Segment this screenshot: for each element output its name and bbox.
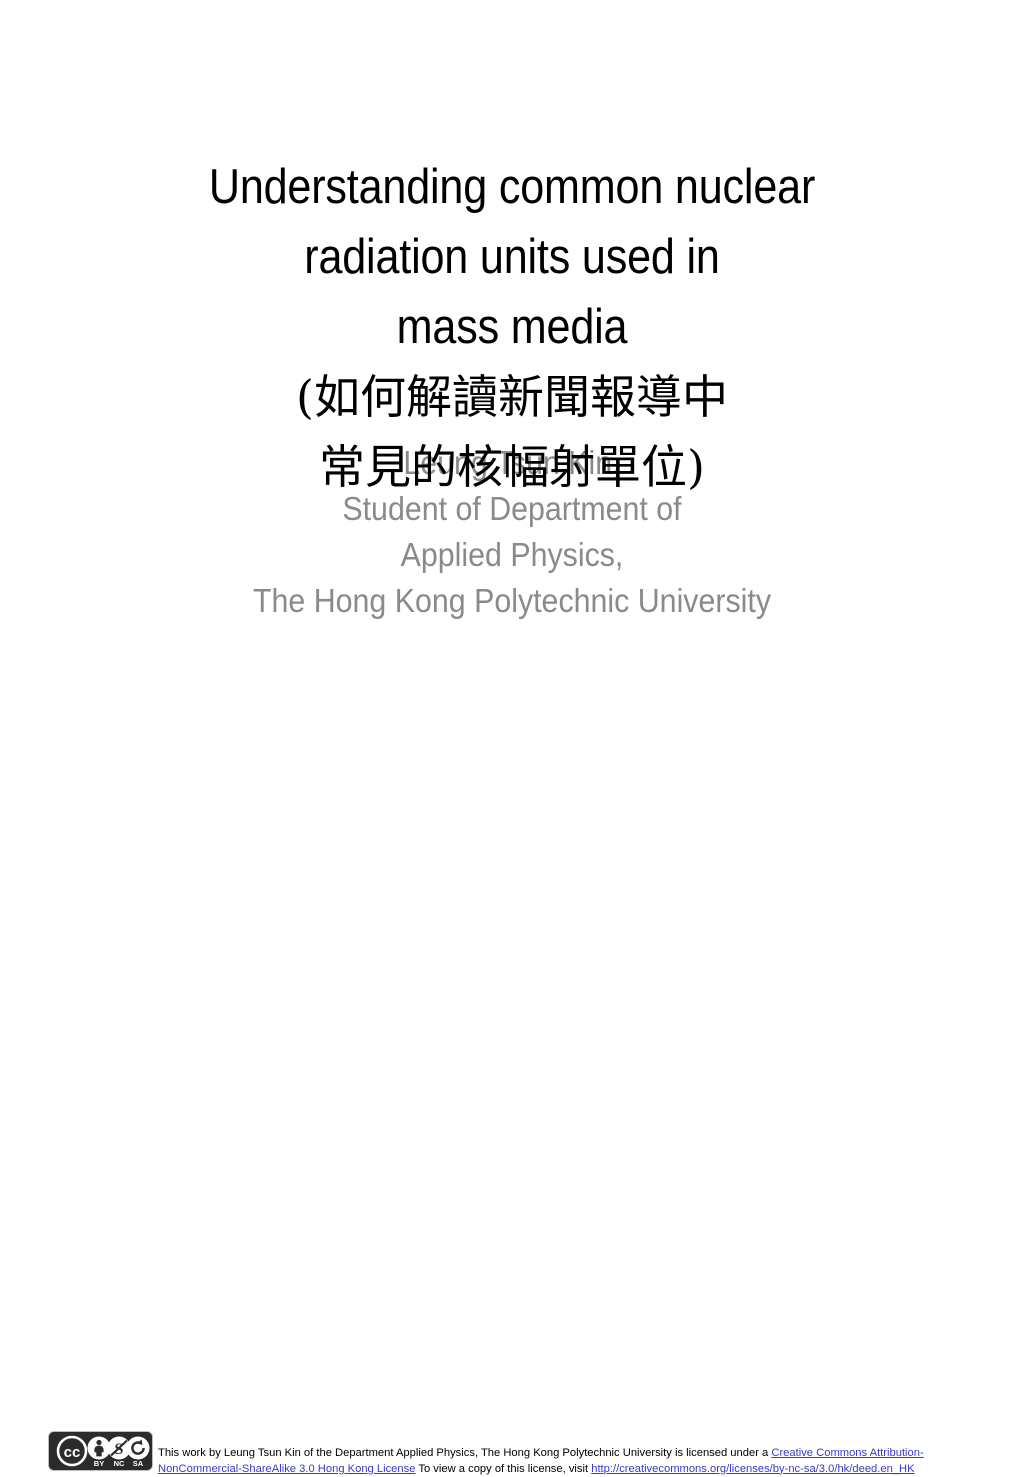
creative-commons-badge[interactable]: cc BY S NC: [49, 1432, 152, 1470]
license-link-url[interactable]: http://creativecommons.org/licenses/by-n…: [591, 1463, 914, 1475]
title-line-cjk-2: 常見的核幅射單位): [112, 432, 912, 502]
author-affiliation-block: Leung Tsun Kin, Student of Department of…: [162, 440, 862, 624]
license-footer: cc BY S NC: [0, 712, 1024, 768]
svg-text:SA: SA: [133, 1459, 144, 1468]
license-text-part-1: This work by Leung Tsun Kin of the Depar…: [158, 1447, 771, 1459]
author-role: Student of Department of: [190, 486, 834, 532]
title-line-cjk-1: (如何解讀新聞報導中: [112, 362, 912, 432]
author-name: Leung Tsun Kin,: [190, 440, 834, 486]
svg-text:cc: cc: [64, 1444, 81, 1461]
presentation-slide: Leung Tsun Kin, Student of Department of…: [0, 0, 1024, 768]
title-line-3: mass media: [160, 292, 864, 362]
slide-title: Understanding common nuclear radiation u…: [112, 152, 912, 502]
author-institution: The Hong Kong Polytechnic University: [190, 578, 834, 624]
svg-text:BY: BY: [94, 1459, 104, 1468]
license-statement: This work by Leung Tsun Kin of the Depar…: [158, 1446, 948, 1477]
author-department: Applied Physics,: [190, 532, 834, 578]
title-line-2: radiation units used in: [160, 222, 864, 292]
title-line-1: Understanding common nuclear: [160, 152, 864, 222]
license-text-part-2: To view a copy of this license, visit: [415, 1463, 591, 1475]
svg-text:NC: NC: [114, 1459, 125, 1468]
